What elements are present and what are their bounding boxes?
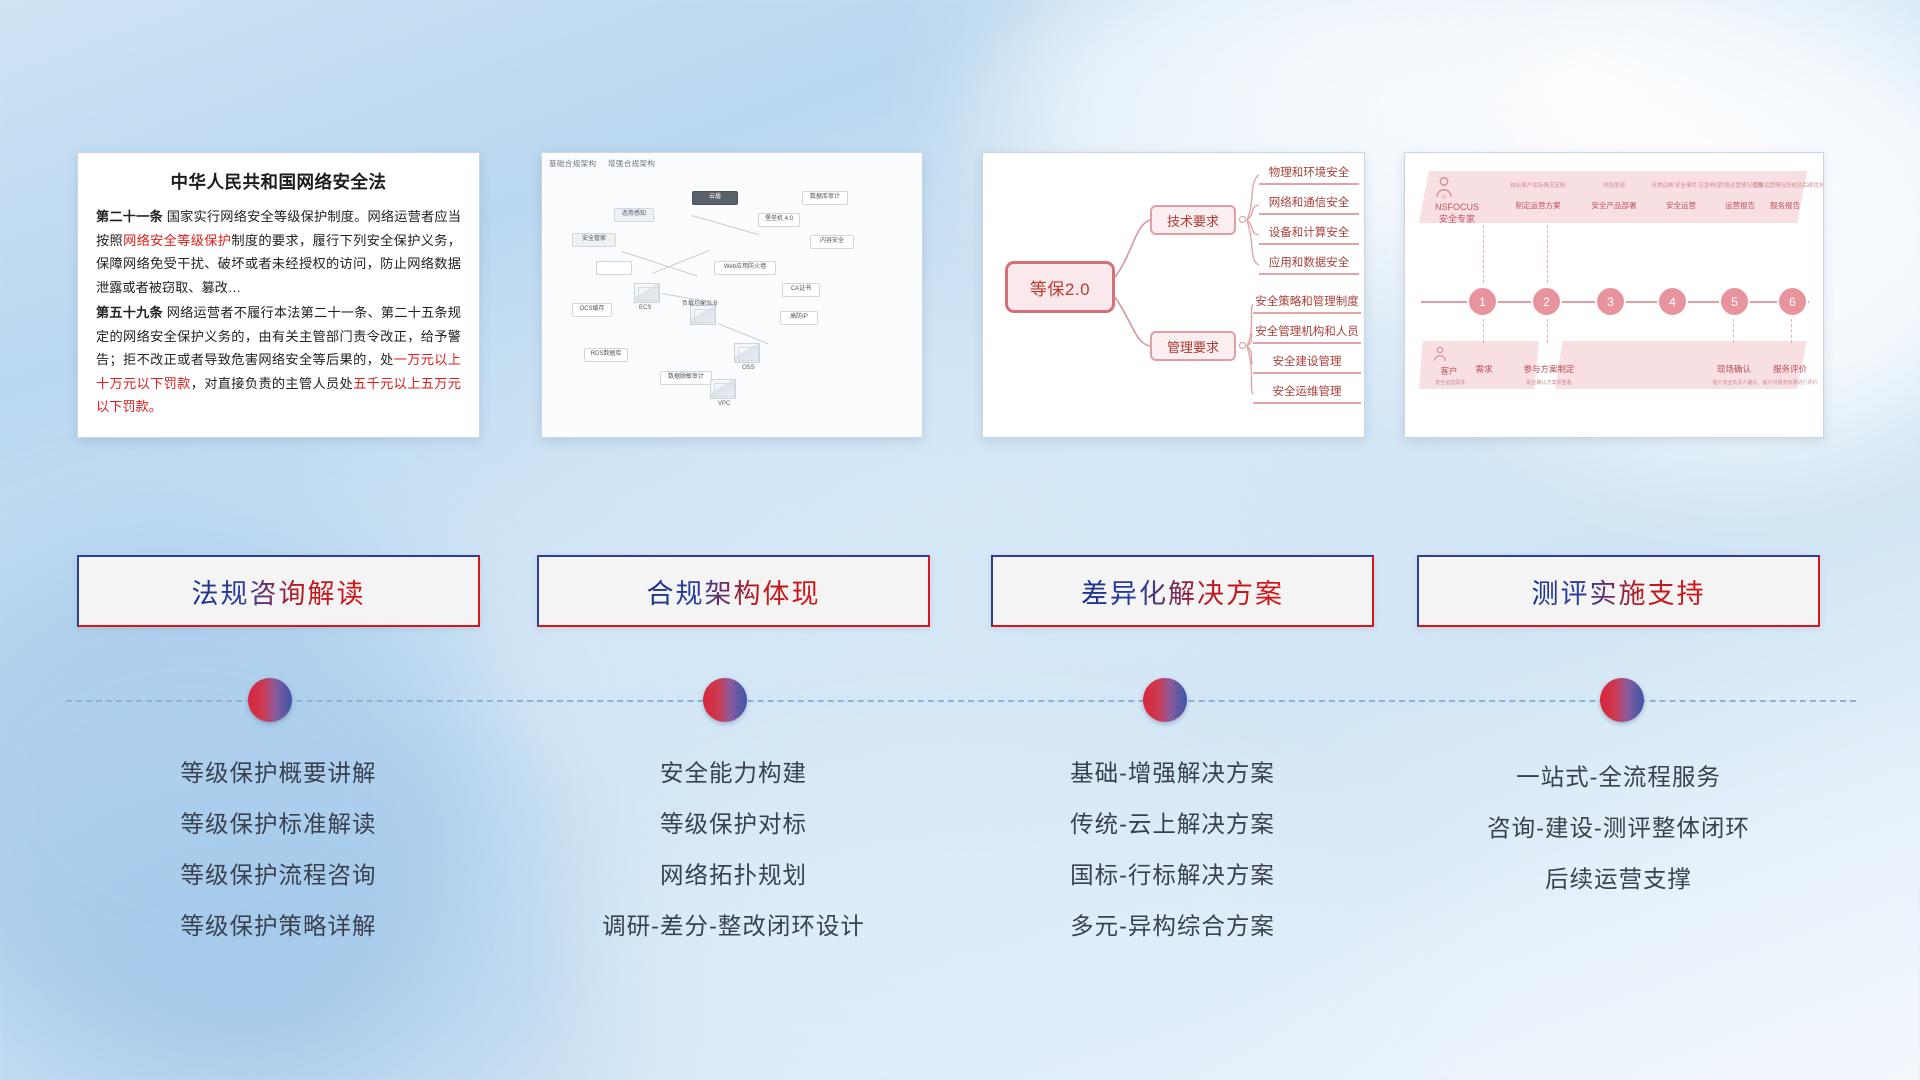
timeline-bottom-label: 需求 bbox=[1461, 363, 1507, 375]
list-item: 一站式-全流程服务 bbox=[1407, 752, 1830, 803]
mindmap-node-dot bbox=[1239, 216, 1246, 223]
timeline-top-label: 安全运营 bbox=[1651, 201, 1711, 211]
arch-node-ca: CA证书 bbox=[782, 283, 820, 297]
mindmap: 等保2.0 技术要求 物理和环境安全 网络和通信安全 设备和计算安全 应用和数据… bbox=[983, 153, 1364, 437]
timeline-step-4: 4 bbox=[1657, 286, 1688, 317]
timeline-marker-2[interactable] bbox=[703, 678, 747, 722]
list-item: 后续运营支撑 bbox=[1407, 854, 1830, 905]
arch-cube-ecs bbox=[634, 283, 660, 303]
mindmap-root-node: 等保2.0 bbox=[1005, 261, 1115, 313]
architecture-header-tags: 基础合规架构 增强合规架构 bbox=[549, 158, 664, 169]
slide-stage: 中华人民共和国网络安全法 第二十一条 国家实行网络安全等级保护制度。网络运营者应… bbox=[0, 0, 1920, 1080]
nsfocus-timeline: NSFOCUS安全专家 结合客户实际情况定制 制定运营方案 风险发现 安全产品部… bbox=[1405, 153, 1823, 437]
timeline-top-sub: 整体运营情况总结及后续优化建议 bbox=[1753, 181, 1817, 189]
timeline-top-label: 制定运营方案 bbox=[1497, 201, 1579, 211]
section-item-list-2: 安全能力构建 等级保护对标 网络拓扑规划 调研-差分-整改闭环设计 bbox=[527, 748, 940, 952]
list-item: 等级保护标准解读 bbox=[77, 799, 480, 850]
timeline-step-5: 5 bbox=[1719, 286, 1750, 317]
section-item-list-1: 等级保护概要讲解 等级保护标准解读 等级保护流程咨询 等级保护策略详解 bbox=[77, 748, 480, 952]
law-paragraph-59: 第五十九条 网络运营者不履行本法第二十一条、第二十五条规定的网络安全保护义务的，… bbox=[96, 301, 461, 419]
arch-node-shield: 云盾 bbox=[692, 191, 738, 205]
arch-node-cloud: 态势感知 bbox=[614, 208, 654, 222]
list-item: 等级保护概要讲解 bbox=[77, 748, 480, 799]
mindmap-node-dot bbox=[1239, 342, 1246, 349]
mindmap-branch-technical: 技术要求 bbox=[1150, 205, 1236, 235]
timeline-marker-4[interactable] bbox=[1600, 678, 1644, 722]
arch-connector bbox=[692, 215, 760, 235]
mindmap-leaf: 安全建设管理 bbox=[1253, 353, 1361, 374]
mindmap-leaf: 应用和数据安全 bbox=[1259, 254, 1359, 275]
arch-label-vpc: VPC bbox=[718, 401, 730, 407]
arch-tag-basic: 基础合规架构 bbox=[549, 159, 596, 168]
card-compliance-architecture: 基础合规架构 增强合规架构 云盾 态势感知 安全管家 OCS缓存 RDS数据库 … bbox=[541, 152, 923, 438]
mindmap-leaf: 物理和环境安全 bbox=[1259, 164, 1359, 185]
arch-node-content-security: 内容安全 bbox=[810, 235, 854, 249]
law-article-label-59: 第五十九条 bbox=[96, 305, 163, 320]
arch-node-generic-a bbox=[596, 261, 632, 275]
timeline-bottom-sub: 安全运营需求 bbox=[1419, 379, 1481, 386]
section-title-box-1[interactable]: 法规咨询解读 bbox=[77, 555, 480, 627]
section-title-text: 法规咨询解读 bbox=[192, 572, 366, 611]
list-item: 网络拓扑规划 bbox=[527, 850, 940, 901]
list-item: 多元-异构综合方案 bbox=[971, 901, 1374, 952]
arch-cube-vpc bbox=[710, 379, 736, 399]
timeline-dashed-link bbox=[1733, 319, 1734, 343]
timeline-bottom-sub: 客户对服务效果进行评价 bbox=[1757, 379, 1823, 386]
timeline-dashed-link bbox=[1483, 225, 1484, 283]
arch-tag-enhanced: 增强合规架构 bbox=[608, 159, 655, 168]
section-title-text: 差异化解决方案 bbox=[1081, 572, 1284, 611]
arch-node-bastion: 堡垒机 4.0 bbox=[758, 213, 800, 227]
arch-connector bbox=[718, 323, 768, 344]
timeline-step-2: 2 bbox=[1531, 286, 1562, 317]
arch-node-rds: RDS数据库 bbox=[584, 348, 628, 362]
mindmap-branch-management: 管理要求 bbox=[1150, 331, 1236, 361]
arch-node-db-audit: 数据库审计 bbox=[802, 191, 848, 205]
mindmap-leaf: 安全管理机构和人员 bbox=[1253, 323, 1361, 344]
arch-label-oss: OSS bbox=[742, 365, 755, 371]
arch-connector bbox=[622, 251, 698, 277]
mindmap-leaf: 安全策略和管理制度 bbox=[1253, 293, 1361, 314]
arch-node-waf: Web应用防火墙 bbox=[714, 261, 776, 275]
law-seg-highlight: 网络安全等级保护 bbox=[123, 233, 231, 248]
timeline-dashed-link bbox=[1791, 319, 1792, 343]
law-article-label-21: 第二十一条 bbox=[96, 209, 163, 224]
timeline-dashed-line bbox=[66, 700, 1856, 702]
timeline-top-sub: 风险发现 bbox=[1581, 181, 1647, 189]
mindmap-leaf: 网络和通信安全 bbox=[1259, 194, 1359, 215]
arch-node-audit: 数据脱敏审计 bbox=[660, 371, 712, 385]
timeline-step-3: 3 bbox=[1595, 286, 1626, 317]
arch-node-antiddos: 高防IP bbox=[780, 311, 818, 325]
list-item: 等级保护对标 bbox=[527, 799, 940, 850]
expert-person-icon bbox=[1431, 175, 1457, 201]
section-title-box-4[interactable]: 测评实施支持 bbox=[1417, 555, 1820, 627]
arch-node-cache: OCS缓存 bbox=[572, 303, 612, 317]
list-item: 等级保护策略详解 bbox=[77, 901, 480, 952]
arch-label-ecs: ECS bbox=[639, 305, 651, 311]
timeline-top-label: 服务报告 bbox=[1757, 201, 1813, 211]
law-document-body: 中华人民共和国网络安全法 第二十一条 国家实行网络安全等级保护制度。网络运营者应… bbox=[78, 153, 479, 429]
customer-person-icon bbox=[1431, 345, 1449, 363]
arch-node-manager: 安全管家 bbox=[572, 233, 616, 247]
timeline-top-sub: 结合客户实际情况定制 bbox=[1497, 181, 1579, 189]
section-title-text: 合规架构体现 bbox=[647, 572, 821, 611]
arch-cube-slb bbox=[690, 305, 716, 325]
list-item: 基础-增强解决方案 bbox=[971, 748, 1374, 799]
timeline-marker-1[interactable] bbox=[248, 678, 292, 722]
mindmap-leaf: 安全运维管理 bbox=[1253, 383, 1361, 404]
timeline-step-6: 6 bbox=[1777, 286, 1808, 317]
card-dengbao-mindmap: 等保2.0 技术要求 物理和环境安全 网络和通信安全 设备和计算安全 应用和数据… bbox=[982, 152, 1365, 438]
list-item: 传统-云上解决方案 bbox=[971, 799, 1374, 850]
section-title-box-2[interactable]: 合规架构体现 bbox=[537, 555, 930, 627]
mindmap-leaf: 设备和计算安全 bbox=[1259, 224, 1359, 245]
timeline-top-label: 安全产品部署 bbox=[1581, 201, 1647, 211]
timeline-bottom-label: 服务评价 bbox=[1765, 363, 1815, 375]
timeline-dashed-link bbox=[1547, 319, 1548, 343]
section-item-list-4: 一站式-全流程服务 咨询-建设-测评整体闭环 后续运营支撑 bbox=[1407, 752, 1830, 905]
timeline-step-1: 1 bbox=[1467, 286, 1498, 317]
section-title-text: 测评实施支持 bbox=[1532, 572, 1706, 611]
screenshot-card-row: 中华人民共和国网络安全法 第二十一条 国家实行网络安全等级保护制度。网络运营者应… bbox=[0, 152, 1920, 442]
law-title: 中华人民共和国网络安全法 bbox=[96, 169, 461, 194]
architecture-diagram: 基础合规架构 增强合规架构 云盾 态势感知 安全管家 OCS缓存 RDS数据库 … bbox=[542, 153, 922, 437]
list-item: 安全能力构建 bbox=[527, 748, 940, 799]
timeline-dashed-link bbox=[1547, 225, 1548, 283]
timeline-bottom-label: 参与方案制定 bbox=[1513, 363, 1585, 375]
card-cybersecurity-law: 中华人民共和国网络安全法 第二十一条 国家实行网络安全等级保护制度。网络运营者应… bbox=[77, 152, 480, 438]
card-nsfocus-timeline: NSFOCUS安全专家 结合客户实际情况定制 制定运营方案 风险发现 安全产品部… bbox=[1404, 152, 1824, 438]
list-item: 咨询-建设-测评整体闭环 bbox=[1407, 803, 1830, 854]
timeline-top-label-expert: NSFOCUS安全专家 bbox=[1421, 201, 1493, 225]
law-paragraph-21: 第二十一条 国家实行网络安全等级保护制度。网络运营者应当按照网络安全等级保护制度… bbox=[96, 205, 461, 299]
list-item: 等级保护流程咨询 bbox=[77, 850, 480, 901]
arch-cube-oss bbox=[734, 343, 760, 363]
list-item: 调研-差分-整改闭环设计 bbox=[527, 901, 940, 952]
timeline-dashed-link bbox=[1483, 319, 1484, 343]
law-seg: ，对直接负责的主管人员处 bbox=[191, 376, 353, 391]
list-item: 国标-行标解决方案 bbox=[971, 850, 1374, 901]
timeline-bottom-label: 现场确认 bbox=[1705, 363, 1763, 375]
section-title-box-3[interactable]: 差异化解决方案 bbox=[991, 555, 1374, 627]
timeline-bottom-sub: 配合确认方案并签署 bbox=[1509, 379, 1589, 386]
timeline-marker-3[interactable] bbox=[1143, 678, 1187, 722]
section-item-list-3: 基础-增强解决方案 传统-云上解决方案 国标-行标解决方案 多元-异构综合方案 bbox=[971, 748, 1374, 952]
